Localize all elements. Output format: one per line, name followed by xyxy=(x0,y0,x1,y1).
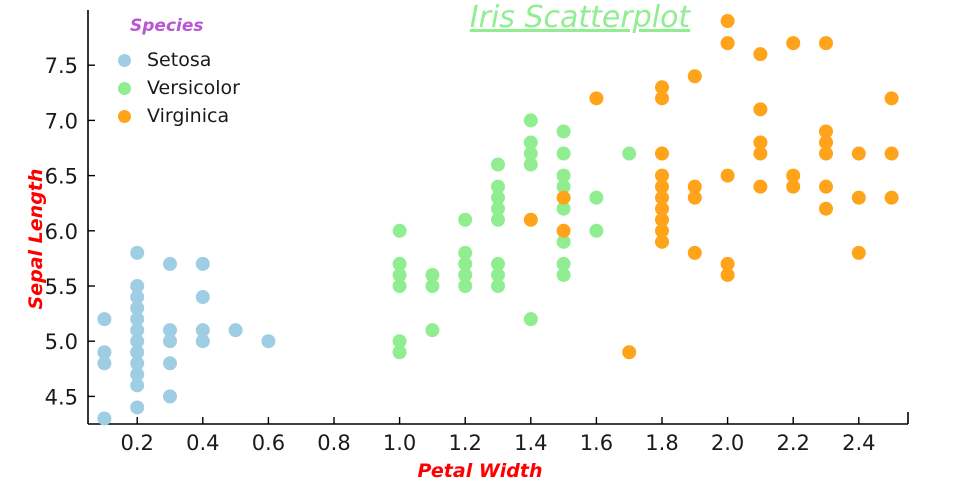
y-tick-label: 5.5 xyxy=(45,275,78,299)
x-tick-label: 0.4 xyxy=(186,431,219,455)
data-point[interactable] xyxy=(721,14,735,28)
data-point[interactable] xyxy=(557,224,571,238)
legend-swatch-setosa xyxy=(118,54,131,67)
data-point[interactable] xyxy=(196,290,210,304)
data-point[interactable] xyxy=(589,191,603,205)
x-tick-label: 1.6 xyxy=(580,431,613,455)
y-tick-label: 5.0 xyxy=(45,330,78,354)
data-point[interactable] xyxy=(688,191,702,205)
y-tick-label: 7.5 xyxy=(45,54,78,78)
data-point[interactable] xyxy=(393,279,407,293)
data-point[interactable] xyxy=(196,257,210,271)
data-point[interactable] xyxy=(425,279,439,293)
data-point[interactable] xyxy=(852,147,866,161)
data-point[interactable] xyxy=(753,102,767,116)
data-point[interactable] xyxy=(688,246,702,260)
data-point[interactable] xyxy=(721,169,735,183)
data-point[interactable] xyxy=(688,69,702,83)
legend: Species Setosa Versicolor Virginica xyxy=(118,16,318,130)
data-point[interactable] xyxy=(852,246,866,260)
data-point[interactable] xyxy=(721,268,735,282)
data-point[interactable] xyxy=(622,345,636,359)
data-point[interactable] xyxy=(819,36,833,50)
x-tick-label: 2.4 xyxy=(842,431,875,455)
legend-label-virginica: Virginica xyxy=(147,105,229,127)
series-versicolor xyxy=(393,113,637,359)
x-tick-label: 1.2 xyxy=(448,431,481,455)
x-tick-label: 0.2 xyxy=(120,431,153,455)
data-point[interactable] xyxy=(589,91,603,105)
data-point[interactable] xyxy=(885,91,899,105)
data-point[interactable] xyxy=(491,279,505,293)
data-point[interactable] xyxy=(557,124,571,138)
data-point[interactable] xyxy=(130,246,144,260)
data-point[interactable] xyxy=(458,279,472,293)
data-point[interactable] xyxy=(524,113,538,127)
data-point[interactable] xyxy=(425,323,439,337)
legend-label-setosa: Setosa xyxy=(147,49,211,71)
data-point[interactable] xyxy=(458,213,472,227)
legend-swatch-versicolor xyxy=(118,82,131,95)
y-axis-label: Sepal Length xyxy=(25,159,47,319)
data-point[interactable] xyxy=(229,323,243,337)
data-point[interactable] xyxy=(393,345,407,359)
data-point[interactable] xyxy=(557,147,571,161)
y-tick-label: 6.0 xyxy=(45,220,78,244)
data-point[interactable] xyxy=(885,147,899,161)
data-point[interactable] xyxy=(786,36,800,50)
x-axis-label: Petal Width xyxy=(330,460,630,482)
y-tick-label: 6.5 xyxy=(45,165,78,189)
data-point[interactable] xyxy=(261,334,275,348)
data-point[interactable] xyxy=(557,191,571,205)
data-point[interactable] xyxy=(491,158,505,172)
data-point[interactable] xyxy=(819,180,833,194)
data-point[interactable] xyxy=(163,356,177,370)
data-point[interactable] xyxy=(524,158,538,172)
data-point[interactable] xyxy=(97,411,111,425)
x-tick-label: 2.0 xyxy=(711,431,744,455)
data-point[interactable] xyxy=(524,312,538,326)
series-setosa xyxy=(97,246,275,426)
data-point[interactable] xyxy=(753,180,767,194)
series-virginica xyxy=(524,14,899,359)
data-point[interactable] xyxy=(753,47,767,61)
data-point[interactable] xyxy=(655,147,669,161)
data-point[interactable] xyxy=(589,224,603,238)
data-point[interactable] xyxy=(163,257,177,271)
data-point[interactable] xyxy=(97,312,111,326)
page-title: Iris Scatterplot xyxy=(440,0,720,35)
data-point[interactable] xyxy=(130,400,144,414)
data-point[interactable] xyxy=(524,213,538,227)
data-point[interactable] xyxy=(721,36,735,50)
x-tick-label: 0.6 xyxy=(252,431,285,455)
y-tick-label: 7.0 xyxy=(45,109,78,133)
data-point[interactable] xyxy=(97,356,111,370)
data-point[interactable] xyxy=(163,334,177,348)
legend-item-setosa[interactable]: Setosa xyxy=(118,46,318,74)
data-point[interactable] xyxy=(852,191,866,205)
legend-item-virginica[interactable]: Virginica xyxy=(118,102,318,130)
data-point[interactable] xyxy=(491,213,505,227)
legend-label-versicolor: Versicolor xyxy=(147,77,240,99)
data-point[interactable] xyxy=(163,389,177,403)
legend-title: Species xyxy=(130,16,318,36)
data-point[interactable] xyxy=(753,147,767,161)
y-tick-label: 4.5 xyxy=(45,385,78,409)
data-point[interactable] xyxy=(622,147,636,161)
data-point[interactable] xyxy=(786,180,800,194)
x-tick-label: 1.4 xyxy=(514,431,547,455)
data-point[interactable] xyxy=(819,147,833,161)
data-point[interactable] xyxy=(196,334,210,348)
data-point[interactable] xyxy=(130,378,144,392)
data-point[interactable] xyxy=(557,268,571,282)
legend-item-versicolor[interactable]: Versicolor xyxy=(118,74,318,102)
legend-swatch-virginica xyxy=(118,110,131,123)
x-tick-label: 2.2 xyxy=(776,431,809,455)
x-tick-label: 1.0 xyxy=(383,431,416,455)
data-point[interactable] xyxy=(819,202,833,216)
data-point[interactable] xyxy=(393,224,407,238)
data-point[interactable] xyxy=(655,91,669,105)
data-point[interactable] xyxy=(885,191,899,205)
data-point[interactable] xyxy=(655,235,669,249)
x-tick-label: 1.8 xyxy=(645,431,678,455)
x-tick-label: 0.8 xyxy=(317,431,350,455)
scatterplot-figure: 0.20.40.60.81.01.21.41.61.82.02.22.44.55… xyxy=(0,0,960,500)
